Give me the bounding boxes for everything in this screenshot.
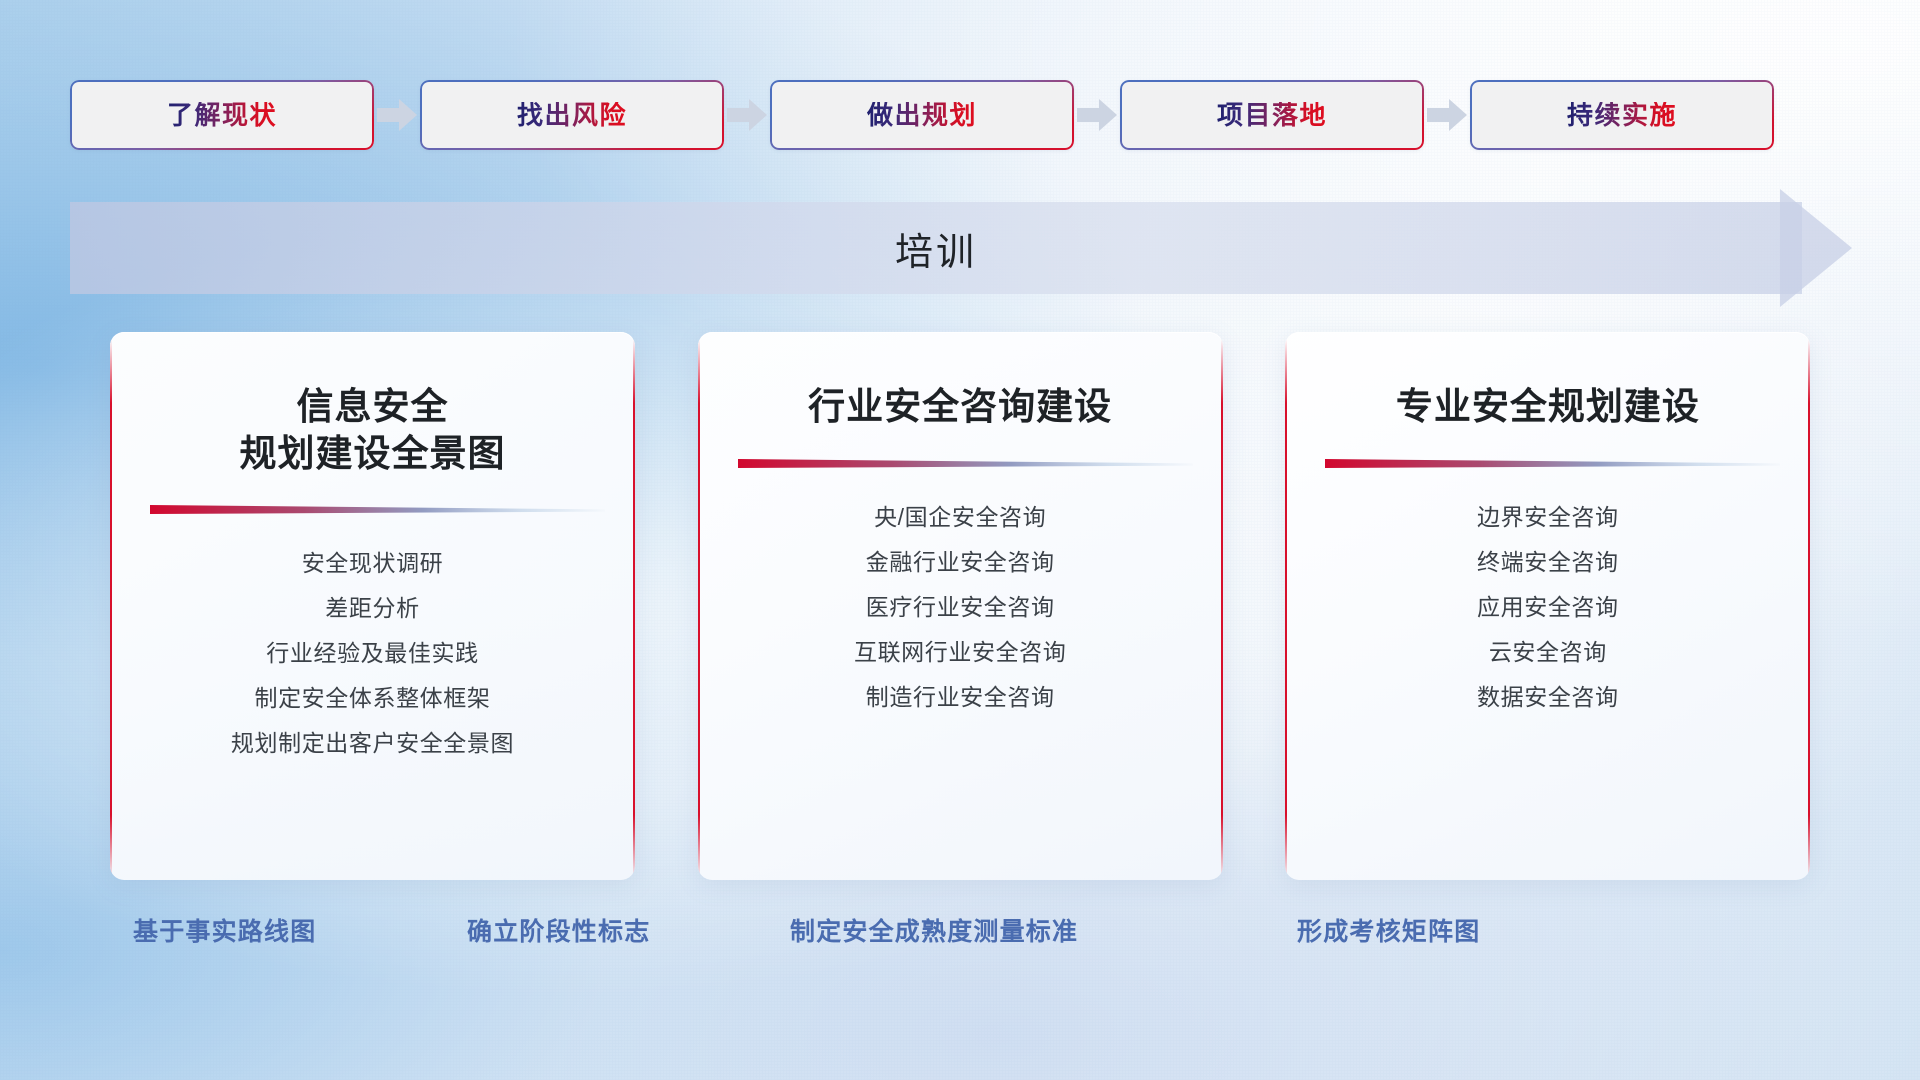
card-list-item: 制定安全体系整体框架 — [254, 684, 490, 712]
footer-label-1: 基于事实路线图 — [133, 912, 316, 948]
arrow-right-icon — [374, 80, 420, 150]
step-label: 持续实施 — [1567, 102, 1677, 128]
arrow-right-icon — [1424, 80, 1470, 150]
card-list-item: 数据安全咨询 — [1477, 683, 1619, 711]
card-surface: 专业安全规划建设边界安全咨询终端安全咨询应用安全咨询云安全咨询数据安全咨询 — [1285, 332, 1810, 880]
card-list-item: 互联网行业安全咨询 — [854, 638, 1066, 666]
step-box-5[interactable]: 持续实施 — [1470, 80, 1774, 150]
card-item-list: 边界安全咨询终端安全咨询应用安全咨询云安全咨询数据安全咨询 — [1477, 503, 1619, 711]
card-list-item: 安全现状调研 — [302, 549, 444, 577]
card-list-item: 云安全咨询 — [1489, 638, 1607, 666]
card-title: 信息安全 规划建设全景图 — [240, 384, 506, 477]
tapered-gradient-divider — [728, 457, 1193, 473]
card-item-list: 央/国企安全咨询金融行业安全咨询医疗行业安全咨询互联网行业安全咨询制造行业安全咨… — [854, 503, 1066, 711]
tapered-gradient-divider — [1315, 457, 1780, 473]
card-content: 行业安全咨询建设央/国企安全咨询金融行业安全咨询医疗行业安全咨询互联网行业安全咨… — [698, 332, 1223, 880]
footer-label-row: 基于事实路线图确立阶段性标志制定安全成熟度测量标准形成考核矩阵图 — [0, 912, 1920, 972]
arrow-right-icon — [724, 80, 770, 150]
card-list-item: 终端安全咨询 — [1477, 548, 1619, 576]
card-title: 行业安全咨询建设 — [808, 384, 1112, 431]
card-surface: 行业安全咨询建设央/国企安全咨询金融行业安全咨询医疗行业安全咨询互联网行业安全咨… — [698, 332, 1223, 880]
step-label: 项目落地 — [1217, 102, 1327, 128]
footer-label-4: 形成考核矩阵图 — [1297, 912, 1480, 948]
step-label: 找出风险 — [517, 102, 627, 128]
card-content: 信息安全 规划建设全景图安全现状调研差距分析行业经验及最佳实践制定安全体系整体框… — [110, 332, 635, 880]
card-title: 专业安全规划建设 — [1396, 384, 1700, 431]
step-label: 做出规划 — [867, 102, 977, 128]
step-box-4[interactable]: 项目落地 — [1120, 80, 1424, 150]
service-card-3[interactable]: 专业安全规划建设边界安全咨询终端安全咨询应用安全咨询云安全咨询数据安全咨询 — [1285, 332, 1810, 880]
footer-label-2: 确立阶段性标志 — [467, 912, 650, 948]
step-box-3[interactable]: 做出规划 — [770, 80, 1074, 150]
card-list-item: 医疗行业安全咨询 — [866, 593, 1055, 621]
service-card-1[interactable]: 信息安全 规划建设全景图安全现状调研差距分析行业经验及最佳实践制定安全体系整体框… — [110, 332, 635, 880]
card-content: 专业安全规划建设边界安全咨询终端安全咨询应用安全咨询云安全咨询数据安全咨询 — [1285, 332, 1810, 880]
card-list-item: 央/国企安全咨询 — [874, 503, 1046, 531]
card-list-item: 规划制定出客户安全全景图 — [231, 729, 514, 757]
card-list-item: 应用安全咨询 — [1477, 593, 1619, 621]
card-list-item: 边界安全咨询 — [1477, 503, 1619, 531]
card-surface: 信息安全 规划建设全景图安全现状调研差距分析行业经验及最佳实践制定安全体系整体框… — [110, 332, 635, 880]
step-box-2[interactable]: 找出风险 — [420, 80, 724, 150]
footer-label-3: 制定安全成熟度测量标准 — [790, 912, 1078, 948]
slide-stage: 了解现状找出风险做出规划项目落地持续实施 培训 信息安全 规划建设全景图安全现状… — [0, 0, 1920, 1080]
process-step-row: 了解现状找出风险做出规划项目落地持续实施 — [70, 80, 1852, 150]
tapered-gradient-divider — [140, 503, 605, 519]
card-list-item: 制造行业安全咨询 — [866, 683, 1055, 711]
card-list-item: 金融行业安全咨询 — [866, 548, 1055, 576]
card-item-list: 安全现状调研差距分析行业经验及最佳实践制定安全体系整体框架规划制定出客户安全全景… — [231, 549, 514, 757]
arrow-right-icon — [1074, 80, 1120, 150]
banner-title: 培训 — [70, 202, 1802, 294]
step-box-1[interactable]: 了解现状 — [70, 80, 374, 150]
card-list-item: 差距分析 — [325, 594, 419, 622]
training-banner: 培训 — [70, 202, 1852, 294]
card-list-item: 行业经验及最佳实践 — [266, 639, 478, 667]
service-card-row: 信息安全 规划建设全景图安全现状调研差距分析行业经验及最佳实践制定安全体系整体框… — [110, 332, 1810, 880]
service-card-2[interactable]: 行业安全咨询建设央/国企安全咨询金融行业安全咨询医疗行业安全咨询互联网行业安全咨… — [698, 332, 1223, 880]
step-label: 了解现状 — [167, 102, 277, 128]
